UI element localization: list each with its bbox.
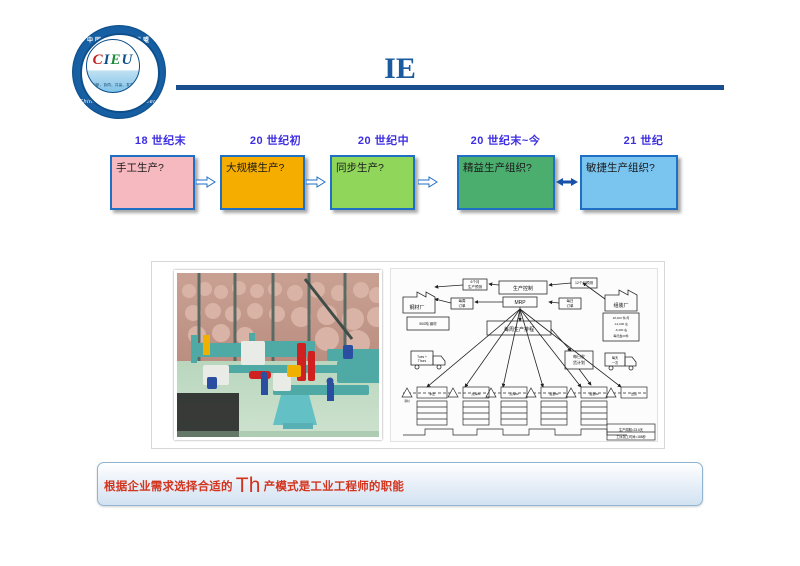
svg-text:一次: 一次 xyxy=(612,360,619,365)
era-box-label-2: 大规模生产? xyxy=(222,157,303,175)
svg-text:生产周期=23.6天: 生产周期=23.6天 xyxy=(619,427,644,432)
era-box-label-3: 同步生产? xyxy=(332,157,413,175)
flow-arrow-2 xyxy=(306,176,326,188)
flow-arrow-3 xyxy=(418,176,438,188)
svg-text:生产控制: 生产控制 xyxy=(513,285,533,292)
value-stream-map-diagram: 生产控制 MRP 每周生产排程 钢材厂 组装厂 每日发 货计划 6个月 生产预测… xyxy=(390,268,658,442)
flow-arrow-4 xyxy=(556,176,578,188)
svg-text:每托盘20件: 每托盘20件 xyxy=(613,333,628,338)
caption-suffix: 产模式是工业工程师的职能 xyxy=(264,481,404,493)
svg-text:Thurs: Thurs xyxy=(418,359,427,363)
svg-text:钢材厂: 钢材厂 xyxy=(409,304,424,311)
svg-text:出货: 出货 xyxy=(631,391,637,396)
svg-text:500吨 钢材: 500吨 钢材 xyxy=(419,321,437,326)
svg-text:组装厂: 组装厂 xyxy=(613,302,628,309)
slide-root: 中国工业工程联盟 China Industrial Engineers Unio… xyxy=(0,0,800,566)
svg-text:钢材: 钢材 xyxy=(404,399,410,403)
svg-text:6个月: 6个月 xyxy=(471,279,480,284)
caption-box: 根据企业需求选择合适的Th产模式是工业工程师的职能 xyxy=(97,462,703,506)
svg-text:点焊#1: 点焊#1 xyxy=(471,391,481,396)
era-label-5: 21 世纪 xyxy=(596,132,691,148)
era-box-5[interactable]: 敏捷生产组织? xyxy=(580,155,678,210)
content-image-panel: 生产控制 MRP 每周生产排程 钢材厂 组装厂 每日发 货计划 6个月 生产预测… xyxy=(152,262,664,448)
caption-prefix: 根据企业需求选择合适的 xyxy=(104,481,233,493)
svg-text:生产预测: 生产预测 xyxy=(468,284,482,289)
svg-text:每周: 每周 xyxy=(459,298,467,303)
era-flow-chart: 18 世纪末 手工生产? 20 世纪初 大规模生产? 20 世纪中 同步生产? … xyxy=(0,0,800,100)
era-label-4: 20 世纪末~今 xyxy=(448,132,563,148)
era-box-2[interactable]: 大规模生产? xyxy=(220,155,305,210)
era-box-label-5: 敏捷生产组织? xyxy=(582,157,676,175)
svg-text:每日: 每日 xyxy=(567,298,574,303)
svg-text:每周生产排程: 每周生产排程 xyxy=(504,326,534,333)
era-box-1[interactable]: 手工生产? xyxy=(110,155,195,210)
svg-text:每天: 每天 xyxy=(612,355,619,360)
svg-text:冲压: 冲压 xyxy=(429,391,435,396)
era-label-3: 20 世纪中 xyxy=(336,132,431,148)
svg-text:点焊#2: 点焊#2 xyxy=(509,391,519,396)
svg-text:-6,400 右: -6,400 右 xyxy=(615,327,627,332)
svg-text:订单: 订单 xyxy=(459,303,467,308)
photo-artwork xyxy=(177,273,379,437)
svg-text:-12,000 左: -12,000 左 xyxy=(614,321,628,326)
svg-text:货计划: 货计划 xyxy=(573,359,585,365)
svg-text:订单: 订单 xyxy=(567,303,575,308)
era-box-label-1: 手工生产? xyxy=(112,157,193,175)
svg-text:组装#2: 组装#2 xyxy=(589,391,599,396)
svg-text:MRP: MRP xyxy=(514,300,526,306)
era-box-label-4: 精益生产组织? xyxy=(459,157,553,175)
svg-text:工序加工时间=188秒: 工序加工时间=188秒 xyxy=(616,434,646,439)
era-box-3[interactable]: 同步生产? xyxy=(330,155,415,210)
era-label-2: 20 世纪初 xyxy=(228,132,323,148)
caption-text: 根据企业需求选择合适的Th产模式是工业工程师的职能 xyxy=(104,474,404,498)
vsm-artwork: 生产控制 MRP 每周生产排程 钢材厂 组装厂 每日发 货计划 6个月 生产预测… xyxy=(391,269,658,442)
svg-text:18,400 件/月: 18,400 件/月 xyxy=(613,315,630,320)
steel-mill-production-line-photo xyxy=(174,270,382,440)
caption-emphasis: Th xyxy=(233,474,264,497)
era-box-4[interactable]: 精益生产组织? xyxy=(457,155,555,210)
flow-arrow-1 xyxy=(196,176,216,188)
svg-text:组装#1: 组装#1 xyxy=(549,391,559,396)
era-label-1: 18 世纪末 xyxy=(113,132,208,148)
